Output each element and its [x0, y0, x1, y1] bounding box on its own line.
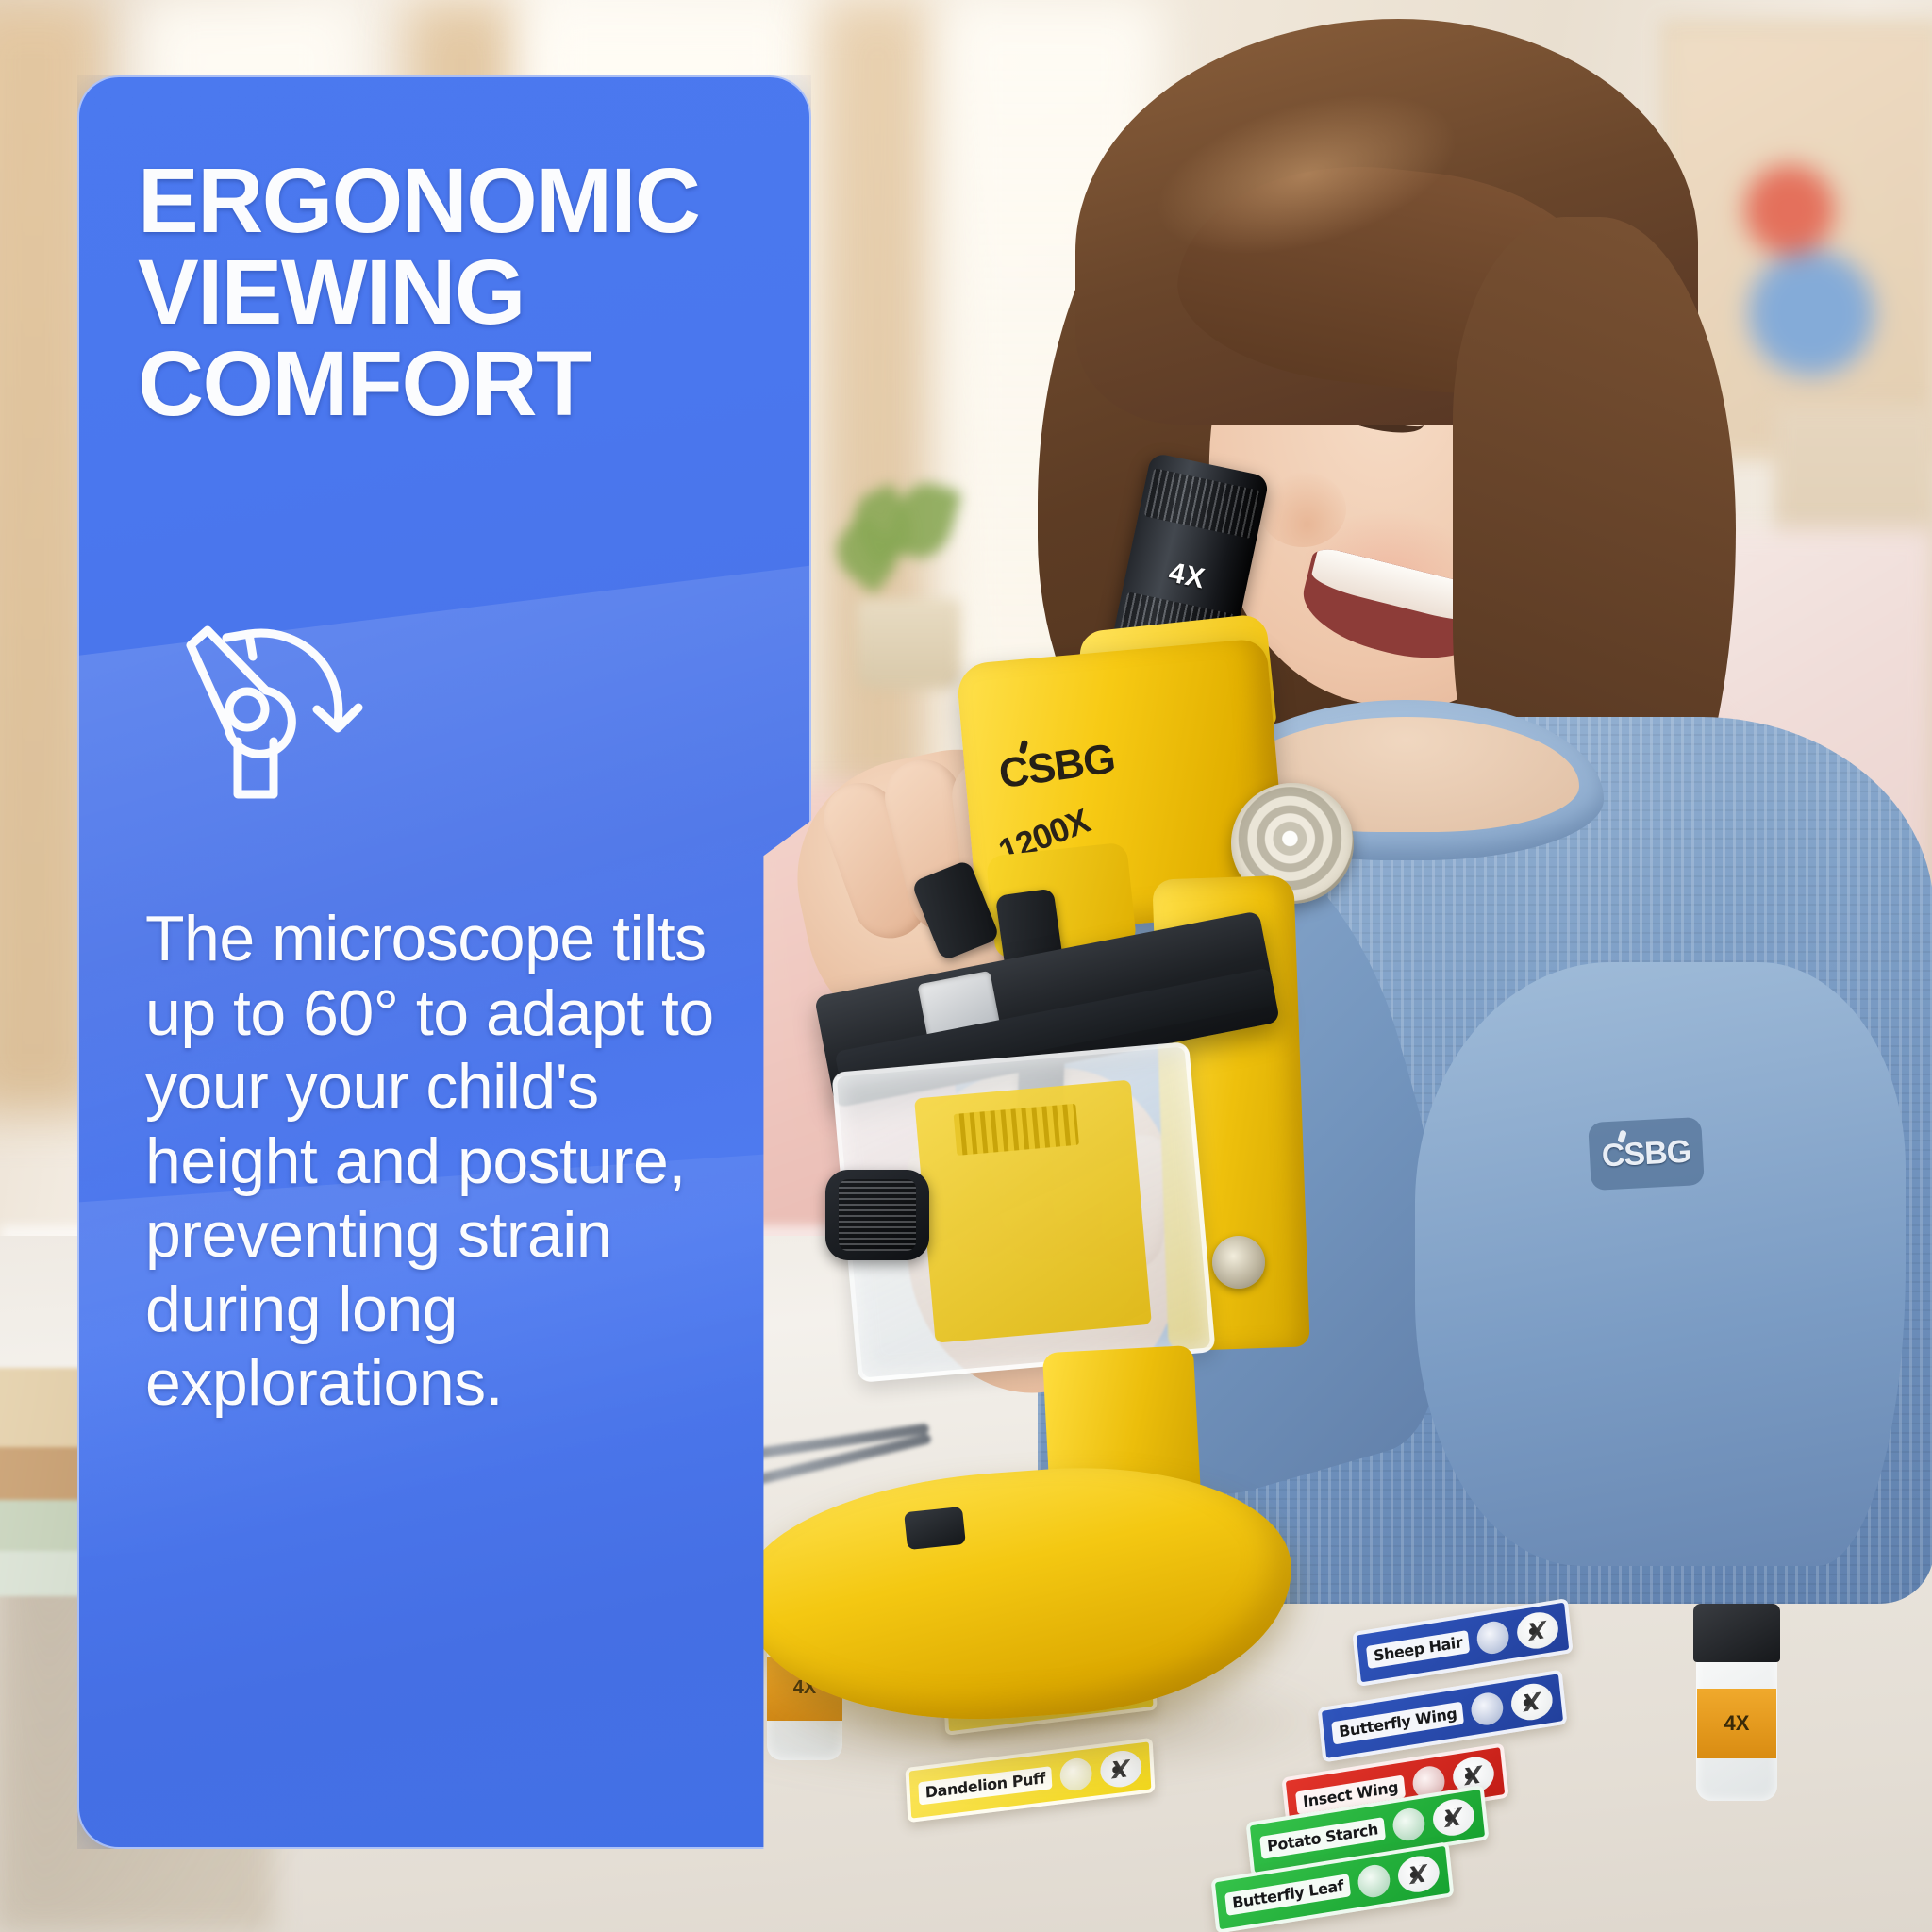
slide-sample-dot	[1391, 1806, 1426, 1842]
slide-illustration	[1516, 1609, 1560, 1652]
toy-microscope: 4X CSBG 1200X	[877, 566, 1406, 1745]
specimen-vial: 4X	[1693, 1604, 1780, 1797]
headline-line-2: VIEWING	[138, 246, 749, 338]
headline-line-1: ERGONOMIC	[138, 155, 749, 246]
power-switch[interactable]	[904, 1507, 966, 1550]
slide-illustration	[1396, 1853, 1441, 1895]
feature-callout-panel: ERGONOMIC VIEWING COMFORT The microscope…	[77, 75, 811, 1849]
headline-line-3: COMFORT	[138, 338, 749, 429]
vial-label: 4X	[1697, 1689, 1777, 1758]
page-title: ERGONOMIC VIEWING COMFORT	[138, 155, 749, 429]
slide-sample-dot	[1475, 1619, 1510, 1656]
slide-illustration	[1431, 1796, 1475, 1839]
vial-cap	[1693, 1604, 1780, 1662]
feature-description: The microscope tilts up to 60° to adapt …	[145, 902, 749, 1421]
right-arm	[1415, 962, 1906, 1566]
slide-label: Butterfly Leaf	[1224, 1874, 1351, 1917]
sweater-logo-c: C	[1601, 1137, 1625, 1174]
slide-sample-dot	[1357, 1862, 1391, 1899]
tilt-hinge-screw[interactable]	[1212, 1236, 1265, 1289]
sweater-logo-text: SBG	[1623, 1133, 1691, 1174]
illumination-knob[interactable]	[825, 1170, 929, 1260]
slide-illustration	[1510, 1681, 1555, 1724]
slide-sample-dot	[1470, 1690, 1505, 1727]
sweater-brand-logo: CSBG	[1588, 1117, 1705, 1191]
slide-label: Potato Starch	[1259, 1817, 1386, 1859]
microscope-brand-label: CSBG	[996, 736, 1118, 799]
tilt-rotation-icon	[179, 623, 749, 821]
